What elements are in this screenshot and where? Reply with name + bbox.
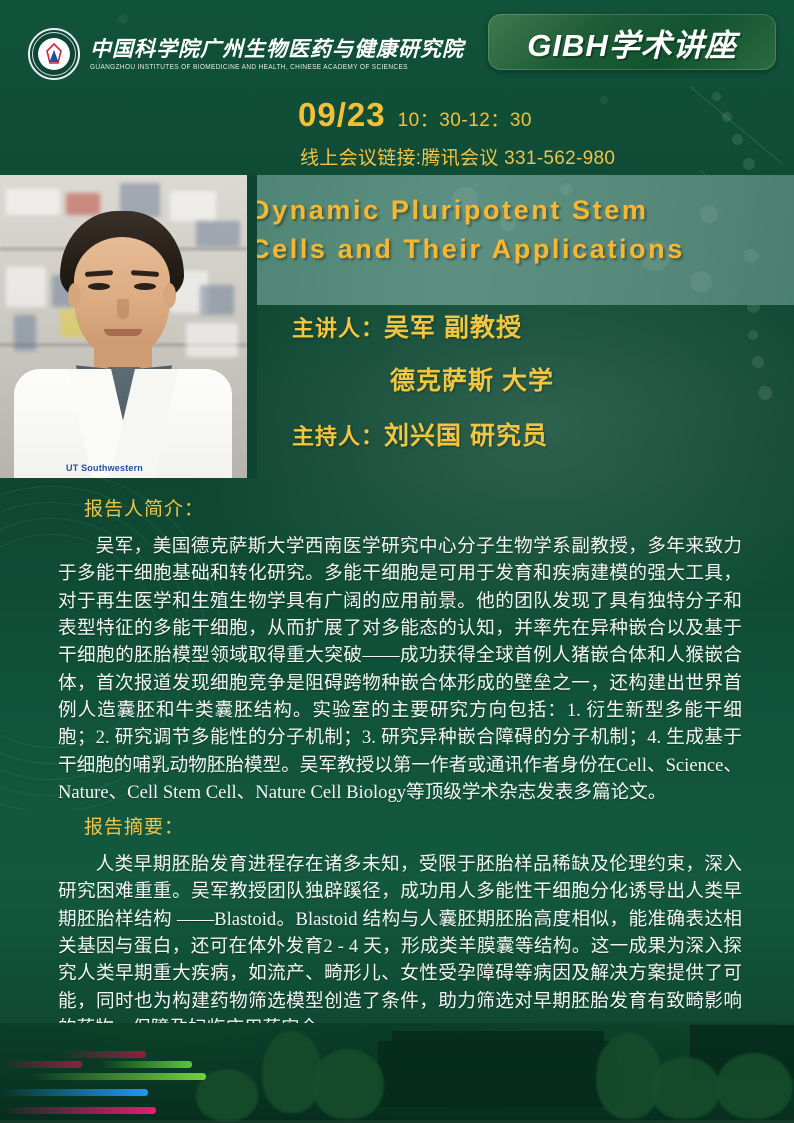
speaker-bio-heading: 报告人简介： [0,494,794,521]
speaker-name: 吴军 副教授 [384,314,522,342]
speaker-figure: UT Southwestern [22,211,222,478]
speaker-info-block: 主讲人：吴军 副教授 德克萨斯 大学 主持人：刘兴国 研究员 [250,316,794,449]
meeting-link: 线上会议链接:腾讯会议 331-562-980 [250,143,794,170]
speaker-bio-section: 报告人简介： 吴军，美国德克萨斯大学西南医学研究中心分子生物学系副教授，多年来致… [0,494,794,806]
event-time: 10：30-12：30 [398,105,532,132]
speaker-affiliation: 德克萨斯 大学 [250,369,794,394]
speaker-portrait: UT Southwestern [0,175,247,478]
speaker-row: 主讲人：吴军 副教授 [250,316,794,341]
logo-english-name: GUANGZHOU INSTITUTES OF BIOMEDICINE AND … [90,63,464,71]
speaker-label: 主讲人： [292,316,384,341]
abstract-heading: 报告摘要： [0,812,794,839]
abstract-text: 人类早期胚胎发育进程存在诸多未知，受限于胚胎样品稀缺及伦理约束，深入研究困难重重… [0,851,794,1042]
host-name: 刘兴国 研究员 [384,422,548,450]
face [74,237,170,357]
lab-coat-badge: UT Southwestern [66,463,143,473]
event-date: 09/23 [298,96,386,134]
lecture-title-line-2: Cells and Their Applications [250,230,784,269]
speaker-bio-text: 吴军，美国德克萨斯大学西南医学研究中心分子生物学系副教授，多年来致力于多能干细胞… [0,533,794,806]
host-row: 主持人：刘兴国 研究员 [250,424,794,449]
logo-chinese-name: 中国科学院广州生物医药与健康研究院 [90,38,464,60]
badge-label: GIBH学术讲座 [527,20,737,65]
poster-header: 中国科学院广州生物医药与健康研究院 GUANGZHOU INSTITUTES O… [0,0,794,90]
cas-emblem-icon [28,28,80,80]
lecture-title: Dynamic Pluripotent Stem Cells and Their… [250,191,784,269]
poster-footer [0,1023,794,1123]
date-time-block: 09/23 10：30-12：30 线上会议链接:腾讯会议 331-562-98… [250,96,794,170]
seminar-poster: 中国科学院广州生物医药与健康研究院 GUANGZHOU INSTITUTES O… [0,0,794,1123]
abstract-section: 报告摘要： 人类早期胚胎发育进程存在诸多未知，受限于胚胎样品稀缺及伦理约束，深入… [0,812,794,1042]
host-label: 主持人： [292,424,384,449]
lecture-title-line-1: Dynamic Pluripotent Stem [250,191,784,230]
lecture-series-badge: GIBH学术讲座 [488,14,776,70]
institute-logo: 中国科学院广州生物医药与健康研究院 GUANGZHOU INSTITUTES O… [28,28,464,80]
plum-blossom-icon [41,43,67,67]
